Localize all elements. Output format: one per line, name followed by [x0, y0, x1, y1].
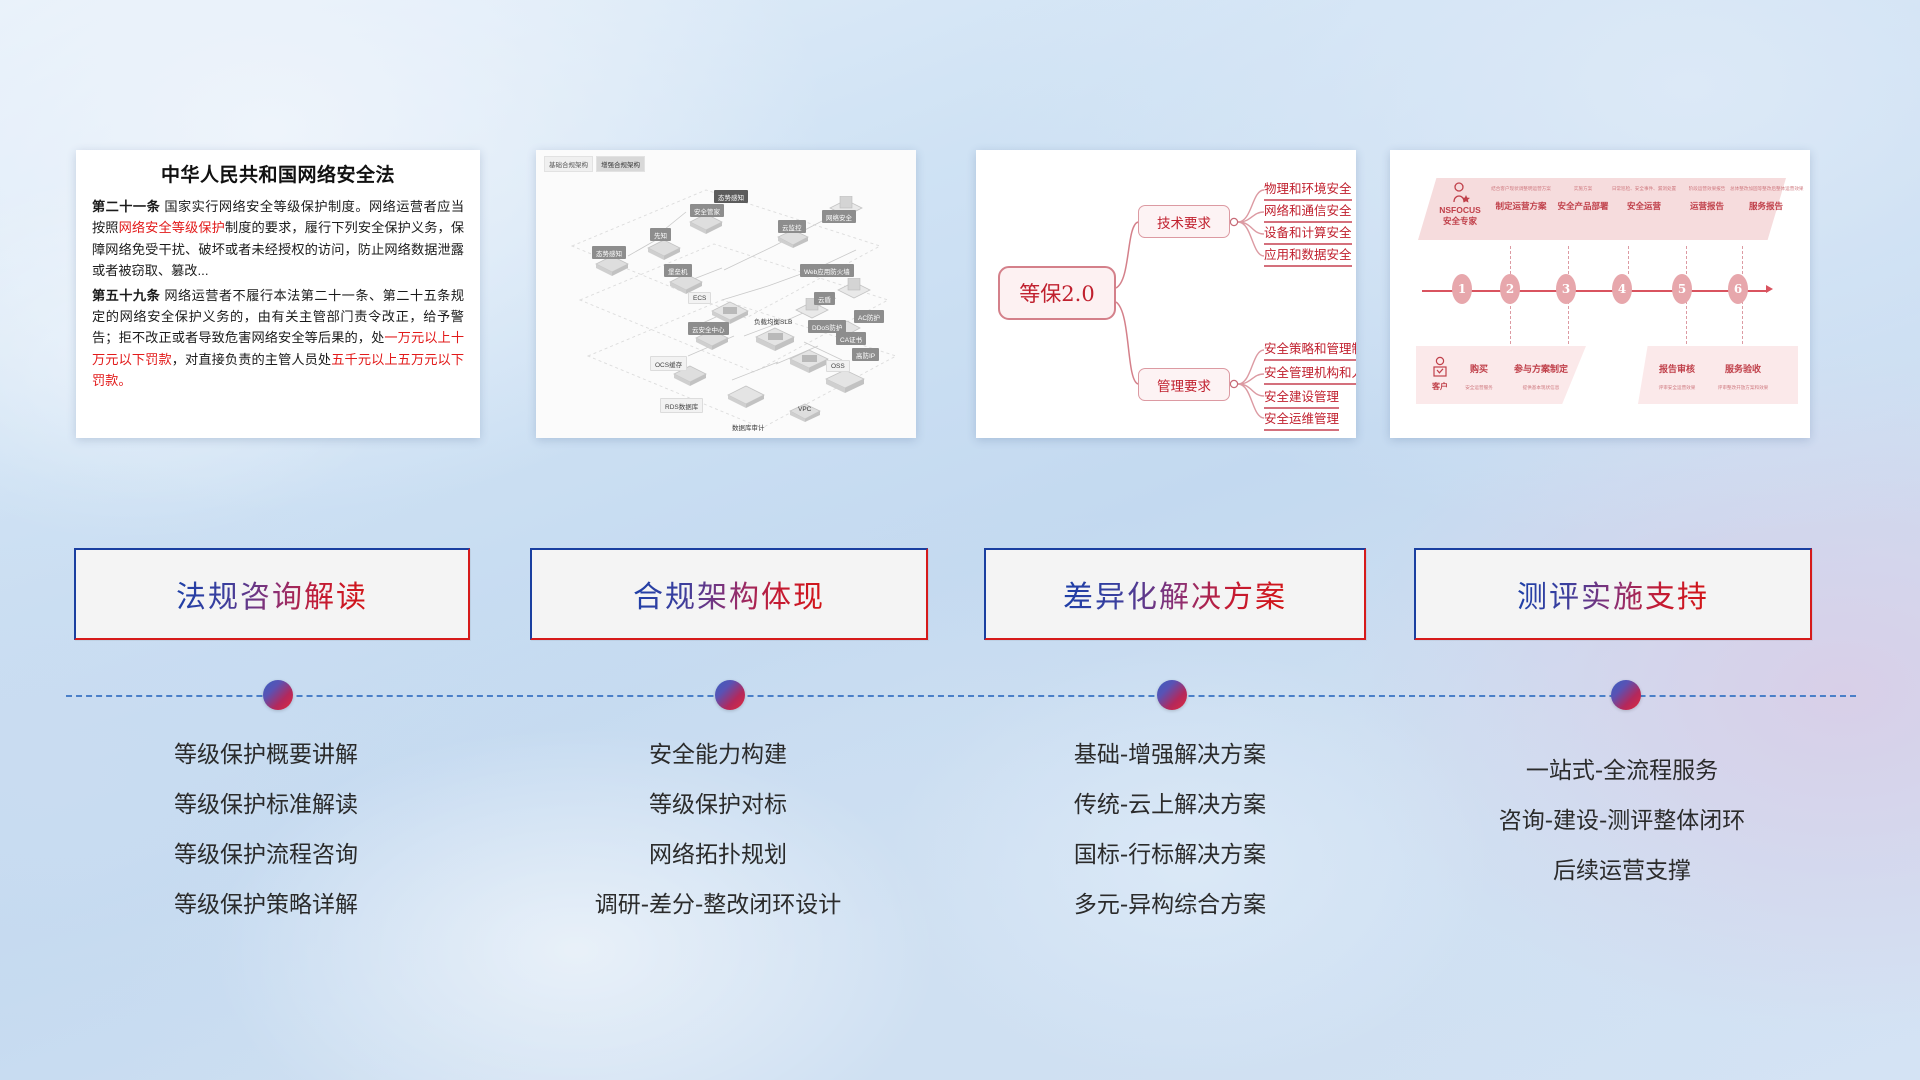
timeline-step-number: 4: [1612, 274, 1632, 304]
node-label-security-butler: 安全管家: [690, 204, 724, 217]
list-item: 多元-异构综合方案: [960, 894, 1380, 917]
timeline-step-number: 5: [1672, 274, 1692, 304]
law-title: 中华人民共和国网络安全法: [92, 160, 464, 187]
mindmap-leaf-policy-system: 安全策略和管理制度: [1264, 338, 1356, 361]
timeline-step-number: 3: [1556, 274, 1576, 304]
list-item: 后续运营支撑: [1412, 860, 1832, 883]
law-article-59: 第五十九条 网络运营者不履行本法第二十一条、第二十五条规定的网络安全保护义务的，…: [92, 285, 464, 392]
mindmap-leaf-construction-mgmt: 安全建设管理: [1264, 386, 1339, 409]
step-connector: [1628, 246, 1629, 274]
law-article-59-label: 第五十九条: [92, 288, 160, 303]
timeline-dot: [1157, 680, 1187, 710]
title-box-compliance-architecture[interactable]: 合规架构体现: [530, 548, 928, 640]
title-box-assessment-support[interactable]: 测评实施支持: [1414, 548, 1812, 640]
band-step-title: 服务报告: [1730, 200, 1802, 212]
customer-step-sub: 安全运营服务: [1454, 385, 1504, 391]
expert-brand: NSFOCUS: [1434, 205, 1486, 215]
list-item: 网络拓扑规划: [508, 844, 928, 867]
mindmap-leaf-operation-mgmt: 安全运维管理: [1264, 408, 1339, 431]
customer-step: 参与方案制定 提供基本现状信息: [1508, 362, 1574, 391]
node-label-cloud-monitor: 云监控: [778, 220, 806, 233]
timeline-dot: [1611, 680, 1641, 710]
mindmap-leaf-network-comm: 网络和通信安全: [1264, 200, 1352, 223]
slide-content: 中华人民共和国网络安全法 第二十一条 国家实行网络安全等级保护制度。网络运营者应…: [0, 0, 1920, 1080]
node-label-ocs-cache: OCS缓存: [650, 356, 687, 371]
node-label-ecs: ECS: [688, 292, 711, 304]
band-step-title: 制定运营方案: [1486, 200, 1556, 212]
list-item: 咨询-建设-测评整体闭环: [1412, 810, 1832, 833]
feature-list-differentiated-solution: 基础-增强解决方案 传统-云上解决方案 国标-行标解决方案 多元-异构综合方案: [960, 744, 1380, 944]
band-step-sub: 总体整改加固等整改后整体运营效果: [1730, 186, 1802, 192]
law-document: 中华人民共和国网络安全法 第二十一条 国家实行网络安全等级保护制度。网络运营者应…: [76, 150, 480, 399]
architecture-diagram: 基础合规架构 增强合规架构: [536, 150, 916, 438]
timeline-dot: [263, 680, 293, 710]
title-box-regulation-consulting[interactable]: 法规咨询解读: [74, 548, 470, 640]
band-step-title: 安全运营: [1606, 200, 1682, 212]
band-step-sub: 日常巡检、安全事件、漏洞处置: [1606, 186, 1682, 192]
node-label-db-audit: 数据库审计: [732, 422, 765, 432]
expert-identity: NSFOCUS 安全专家: [1434, 182, 1486, 227]
customer-step-title: 服务验收: [1708, 362, 1778, 375]
person-star-icon: [1450, 182, 1470, 204]
node-label-vpc: VPC: [798, 406, 811, 413]
list-item: 传统-云上解决方案: [960, 794, 1380, 817]
timeline-track: [66, 694, 1856, 697]
list-item: 等级保护概要讲解: [56, 744, 476, 767]
law-article-21: 第二十一条 国家实行网络安全等级保护制度。网络运营者应当按照网络安全等级保护制度…: [92, 196, 464, 282]
feature-list-assessment-support: 一站式-全流程服务 咨询-建设-测评整体闭环 后续运营支撑: [1412, 760, 1832, 910]
card-dengbao-mindmap: 等保2.0 技术要求 物理和环境安全 网络和通信安全 设备和计算安全 应用和数据…: [976, 150, 1356, 438]
list-item: 等级保护标准解读: [56, 794, 476, 817]
mindmap-leaf-app-data: 应用和数据安全: [1264, 244, 1352, 267]
timeline-dot: [715, 680, 745, 710]
timeline-step-number: 6: [1728, 274, 1748, 304]
node-label-ac-protection: AC防护: [854, 310, 884, 323]
node-label-rds-database: RDS数据库: [660, 398, 703, 413]
node-label-bastion-host: 堡垒机: [664, 264, 692, 277]
title-text: 测评实施支持: [1517, 572, 1709, 616]
node-label-situation-awareness: 态势感知: [714, 190, 748, 203]
node-label-ca-cert: CA证书: [836, 332, 866, 345]
timeline-step-number: 1: [1452, 274, 1472, 304]
mindmap-branch-management: 管理要求: [1138, 368, 1230, 401]
list-item: 一站式-全流程服务: [1412, 760, 1832, 783]
mindmap-root: 等保2.0: [998, 266, 1116, 320]
card-nsfocus-service-timeline: NSFOCUS 安全专家 结合客户现状调整明运营方案 制定运营方案 实施方案 安…: [1390, 150, 1810, 438]
list-item: 安全能力构建: [508, 744, 928, 767]
customer-step-title: 购买: [1454, 362, 1504, 375]
mindmap-leaf-physical-env: 物理和环境安全: [1264, 178, 1352, 201]
title-text: 法规咨询解读: [176, 572, 368, 616]
mindmap-branch-technical: 技术要求: [1138, 205, 1230, 238]
node-label-oss: OSS: [826, 360, 850, 372]
customer-step-sub: 提供基本现状信息: [1508, 385, 1574, 391]
customer-step-title: 参与方案制定: [1508, 362, 1574, 375]
band-step: 日常巡检、安全事件、漏洞处置 安全运营: [1606, 186, 1682, 212]
expert-role: 安全专家: [1434, 215, 1486, 227]
node-label-slb: 负载均衡SLB: [754, 316, 792, 326]
node-label-security-guard: 云安全中心: [688, 322, 729, 335]
title-text: 合规架构体现: [633, 572, 825, 616]
node-label-cloud-shield: 云盾: [814, 292, 835, 305]
list-item: 调研-差分-整改闭环设计: [508, 894, 928, 917]
title-text: 差异化解决方案: [1063, 572, 1287, 616]
band-step: 结合客户现状调整明运营方案 制定运营方案: [1486, 186, 1556, 212]
customer-step: 购买 安全运营服务: [1454, 362, 1504, 391]
list-item: 基础-增强解决方案: [960, 744, 1380, 767]
customer-step-sub: 评审安全运营效果: [1646, 385, 1708, 391]
feature-list-compliance-architecture: 安全能力构建 等级保护对标 网络拓扑规划 调研-差分-整改闭环设计: [508, 744, 928, 944]
customer-step: 服务验收 评审整改开放方案和效果: [1708, 362, 1778, 391]
node-label-network-security: 网络安全: [822, 210, 856, 223]
customer-icon: [1430, 356, 1450, 380]
mindmap-leaf-org-personnel: 安全管理机构和人员: [1264, 362, 1356, 385]
timeline-axis: [1422, 290, 1768, 292]
list-item: 国标-行标解决方案: [960, 844, 1380, 867]
list-item: 等级保护流程咨询: [56, 844, 476, 867]
mindmap-leaf-device-compute: 设备和计算安全: [1264, 222, 1352, 245]
card-cloud-architecture: 基础合规架构 增强合规架构: [536, 150, 916, 438]
title-box-differentiated-solution[interactable]: 差异化解决方案: [984, 548, 1366, 640]
law-article-21-highlight: 网络安全等级保护: [119, 220, 225, 235]
customer-step-title: 报告审核: [1646, 362, 1708, 375]
node-label-xianzhi: 先知: [650, 228, 671, 241]
law-article-21-label: 第二十一条: [92, 199, 160, 214]
node-label-situation-awareness-2: 态势感知: [592, 246, 626, 259]
card-cybersecurity-law: 中华人民共和国网络安全法 第二十一条 国家实行网络安全等级保护制度。网络运营者应…: [76, 150, 480, 438]
customer-step: 报告审核 评审安全运营效果: [1646, 362, 1708, 391]
timeline-arrow-icon: [1766, 285, 1773, 293]
band-step: 总体整改加固等整改后整体运营效果 服务报告: [1730, 186, 1802, 212]
band-step-sub: 结合客户现状调整明运营方案: [1486, 186, 1556, 192]
node-label-anti-ddos-ip: 高防IP: [852, 348, 879, 361]
mindmap: 等保2.0 技术要求 物理和环境安全 网络和通信安全 设备和计算安全 应用和数据…: [976, 150, 1356, 438]
node-label-waf: Web应用防火墙: [800, 264, 854, 277]
nsfocus-timeline: NSFOCUS 安全专家 结合客户现状调整明运营方案 制定运营方案 实施方案 安…: [1390, 150, 1810, 438]
timeline-step-number: 2: [1500, 274, 1520, 304]
law-article-59-text-2: ，对直接负责的主管人员处: [172, 352, 331, 367]
feature-list-regulation-consulting: 等级保护概要讲解 等级保护标准解读 等级保护流程咨询 等级保护策略详解: [56, 744, 476, 944]
timeline-dashed-line: [66, 695, 1856, 697]
customer-step-sub: 评审整改开放方案和效果: [1708, 385, 1778, 391]
list-item: 等级保护对标: [508, 794, 928, 817]
list-item: 等级保护策略详解: [56, 894, 476, 917]
